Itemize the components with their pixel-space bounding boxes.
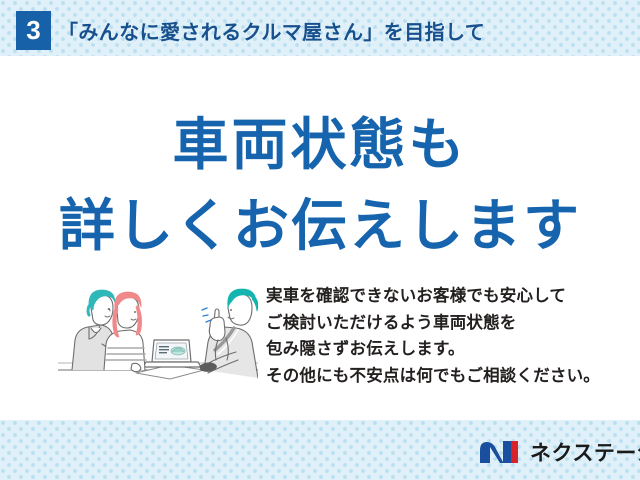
headline-line-2: 詳しくお伝えします	[0, 181, 640, 262]
nextage-logo: ネクステージ	[478, 437, 640, 467]
body-line-1: 実車を確認できないお客様でも安心して	[266, 283, 616, 310]
body-line-4: その他にも不安点は何でもご相談ください。	[266, 363, 616, 390]
nextage-n-mark-icon	[478, 438, 524, 466]
body-line-2: ご検討いただけるよう車両状態を	[266, 310, 616, 337]
body-line-3: 包み隠さずお伝えします。	[266, 336, 616, 363]
section-number-badge: 3	[16, 11, 51, 50]
body-paragraph: 実車を確認できないお客様でも安心して ご検討いただけるよう車両状態を 包み隠さず…	[266, 283, 616, 389]
header-title: 「みんなに愛されるクルマ屋さん」を目指して	[58, 16, 485, 45]
headline-line-1: 車両状態も	[0, 100, 640, 181]
consultation-illustration	[58, 278, 258, 388]
nextage-logo-text: ネクステージ	[530, 437, 640, 467]
header: 3 「みんなに愛されるクルマ屋さん」を目指して	[0, 0, 640, 56]
slide-root: 3 「みんなに愛されるクルマ屋さん」を目指して 車両状態も 詳しくお伝えします …	[0, 0, 640, 480]
